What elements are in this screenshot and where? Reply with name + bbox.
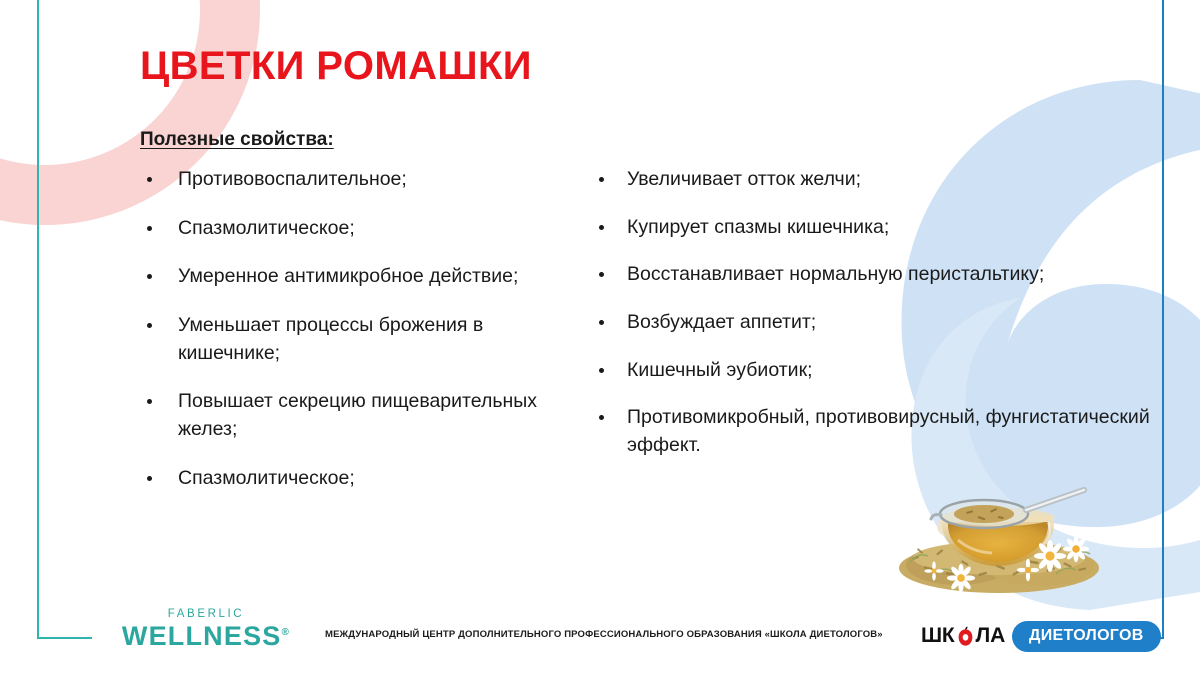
bullet-dot-icon xyxy=(599,320,604,325)
list-item: Восстанавливает нормальную перистальтику… xyxy=(585,261,1185,289)
apple-icon xyxy=(956,626,975,647)
bullet-dot-icon xyxy=(599,225,604,230)
list-item-text: Купирует спазмы кишечника; xyxy=(627,216,889,238)
bullet-dot-icon xyxy=(599,368,604,373)
list-item: Кишечный эубиотик; xyxy=(585,357,1185,385)
list-item: Умеренное антимикробное действие; xyxy=(130,263,582,291)
chamomile-tea-photo xyxy=(888,470,1110,602)
bullet-dot-icon xyxy=(147,323,152,328)
shkola-text-part1: ШК xyxy=(921,624,955,648)
list-item: Купирует спазмы кишечника; xyxy=(585,214,1185,242)
list-item: Увеличивает отток желчи; xyxy=(585,166,1185,194)
list-item-text: Спазмолитическое; xyxy=(178,217,355,239)
shkola-dietologov-logo: ШК ЛА ДИЕТОЛОГОВ xyxy=(921,620,1161,652)
list-item-text: Кишечный эубиотик; xyxy=(627,359,813,381)
list-item: Спазмолитическое; xyxy=(130,465,582,493)
shkola-text-part2: ЛА xyxy=(976,624,1006,648)
list-item-text: Повышает секрецию пищеварительных желез; xyxy=(178,390,537,440)
list-item-text: Спазмолитическое; xyxy=(178,467,355,489)
bullet-dot-icon xyxy=(599,415,604,420)
bullet-column-left: Противовоспалительное; Спазмолитическое;… xyxy=(130,166,582,514)
faberlic-wellness-logo: FABERLIC WELLNESS® xyxy=(116,608,296,652)
bullet-dot-icon xyxy=(147,399,152,404)
faberlic-wordmark: FABERLIC xyxy=(116,608,296,620)
list-item: Возбуждает аппетит; xyxy=(585,309,1185,337)
bullet-column-right: Увеличивает отток желчи; Купирует спазмы… xyxy=(585,166,1185,480)
list-item: Противомикробный, противовирусный, фунги… xyxy=(585,404,1185,459)
list-item: Уменьшает процессы брожения в кишечнике; xyxy=(130,312,582,367)
list-item-text: Умеренное антимикробное действие; xyxy=(178,265,518,287)
section-subheading: Полезные свойства: xyxy=(140,129,334,151)
wellness-wordmark: WELLNESS® xyxy=(122,621,290,652)
list-item-text: Увеличивает отток желчи; xyxy=(627,168,861,190)
slide-title: ЦВЕТКИ РОМАШКИ xyxy=(140,44,532,89)
wellness-text: WELLNESS xyxy=(122,621,282,651)
slide-content: ЦВЕТКИ РОМАШКИ Полезные свойства: Против… xyxy=(0,0,1200,676)
list-item-text: Противовоспалительное; xyxy=(178,168,407,190)
bullet-dot-icon xyxy=(599,177,604,182)
footer-organization-text: МЕЖДУНАРОДНЫЙ ЦЕНТР ДОПОЛНИТЕЛЬНОГО ПРОФ… xyxy=(325,629,885,640)
registered-mark-icon: ® xyxy=(282,627,291,638)
shkola-wordmark: ШК ЛА xyxy=(921,624,1005,648)
bullet-dot-icon xyxy=(147,274,152,279)
list-item-text: Восстанавливает нормальную перистальтику… xyxy=(627,263,1044,285)
list-item-text: Возбуждает аппетит; xyxy=(627,311,816,333)
presentation-slide: ЦВЕТКИ РОМАШКИ Полезные свойства: Против… xyxy=(0,0,1200,676)
bullet-dot-icon xyxy=(599,272,604,277)
bullet-list-left: Противовоспалительное; Спазмолитическое;… xyxy=(130,166,582,493)
list-item: Противовоспалительное; xyxy=(130,166,582,194)
list-item-text: Противомикробный, противовирусный, фунги… xyxy=(627,406,1150,456)
list-item-text: Уменьшает процессы брожения в кишечнике; xyxy=(178,314,483,364)
list-item: Повышает секрецию пищеварительных желез; xyxy=(130,388,582,443)
dietologov-pill: ДИЕТОЛОГОВ xyxy=(1012,621,1161,652)
list-item: Спазмолитическое; xyxy=(130,215,582,243)
bullet-list-right: Увеличивает отток желчи; Купирует спазмы… xyxy=(585,166,1185,460)
bullet-dot-icon xyxy=(147,177,152,182)
bullet-dot-icon xyxy=(147,476,152,481)
bullet-dot-icon xyxy=(147,226,152,231)
